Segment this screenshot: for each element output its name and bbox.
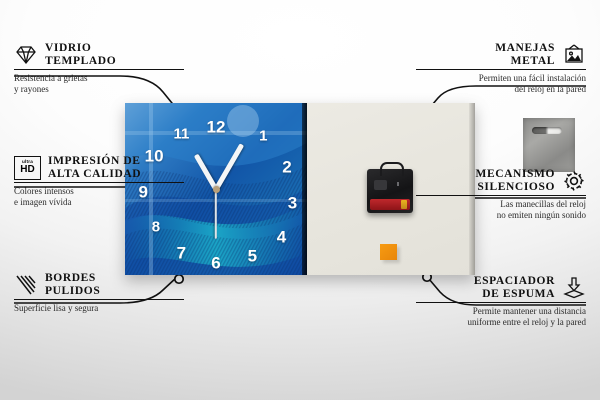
- mechanism-loop: [380, 162, 404, 176]
- clock-second-hand: [215, 189, 217, 239]
- callout-vidrio-templado: VIDRIOTEMPLADO Resistencia a grietasy ra…: [14, 42, 184, 95]
- callout-bordes-pulidos: BORDESPULIDOS Superficie lisa y segura: [14, 272, 184, 314]
- callout-manejas-metal: MANEJASMETAL Permiten una fácil instalac…: [416, 42, 586, 95]
- clock-numeral-12: 12: [207, 119, 226, 136]
- foam-spacer-pad: [380, 244, 397, 260]
- mechanism-dial: [374, 180, 387, 190]
- callout-subtitle: Permite mantener una distanciauniforme e…: [416, 303, 586, 328]
- polished-edge-icon: [14, 273, 38, 297]
- clock-numeral-3: 3: [288, 194, 297, 211]
- callout-title: BORDESPULIDOS: [45, 272, 100, 297]
- callout-espaciador-espuma: ESPACIADORDE ESPUMA Permite mantener una…: [416, 275, 586, 328]
- callout-title: MECANISMOSILENCIOSO: [475, 168, 555, 193]
- hanger-keyhole-slot: [532, 127, 562, 134]
- callout-title: ESPACIADORDE ESPUMA: [474, 275, 555, 300]
- ultra-hd-icon: ultra HD: [14, 156, 41, 180]
- clock-numeral-6: 6: [211, 254, 220, 271]
- battery-compartment: [370, 199, 410, 210]
- callout-subtitle: Colores intensose imagen vívida: [14, 183, 184, 208]
- foam-spacer-icon: [562, 276, 586, 300]
- mechanism-vents: [397, 182, 408, 186]
- picture-hanger-icon: [562, 43, 586, 67]
- metal-hanger-plate: [523, 118, 575, 172]
- clock-numeral-5: 5: [248, 248, 257, 265]
- callout-title: IMPRESIÓN DEALTA CALIDAD: [48, 155, 141, 180]
- callout-title: MANEJASMETAL: [495, 42, 555, 67]
- clock-numeral-1: 1: [259, 128, 267, 143]
- callout-impresion-alta-calidad: ultra HD IMPRESIÓN DEALTA CALIDAD Colore…: [14, 155, 184, 208]
- callout-subtitle: Las manecillas del relojno emiten ningún…: [416, 196, 586, 221]
- clock-center-pin: [213, 186, 220, 193]
- quartz-mechanism: [367, 169, 413, 213]
- callout-subtitle: Resistencia a grietasy rayones: [14, 70, 184, 95]
- clock-numeral-7: 7: [177, 244, 186, 261]
- callout-mecanismo-silencioso: MECANISMOSILENCIOSO Las manecillas del r…: [416, 168, 586, 221]
- gear-icon: [562, 169, 586, 193]
- clock-numeral-11: 11: [173, 126, 189, 141]
- callout-title: VIDRIOTEMPLADO: [45, 42, 116, 67]
- callout-subtitle: Permiten una fácil instalacióndel reloj …: [416, 70, 586, 95]
- clock-numeral-8: 8: [152, 219, 160, 234]
- clock-numeral-4: 4: [277, 229, 286, 246]
- infographic-canvas: 12 1 2 3 4 5 6 7 8 9 10 11: [0, 0, 600, 400]
- clock-numeral-2: 2: [282, 158, 291, 175]
- diamond-icon: [14, 43, 38, 67]
- callout-subtitle: Superficie lisa y segura: [14, 300, 184, 314]
